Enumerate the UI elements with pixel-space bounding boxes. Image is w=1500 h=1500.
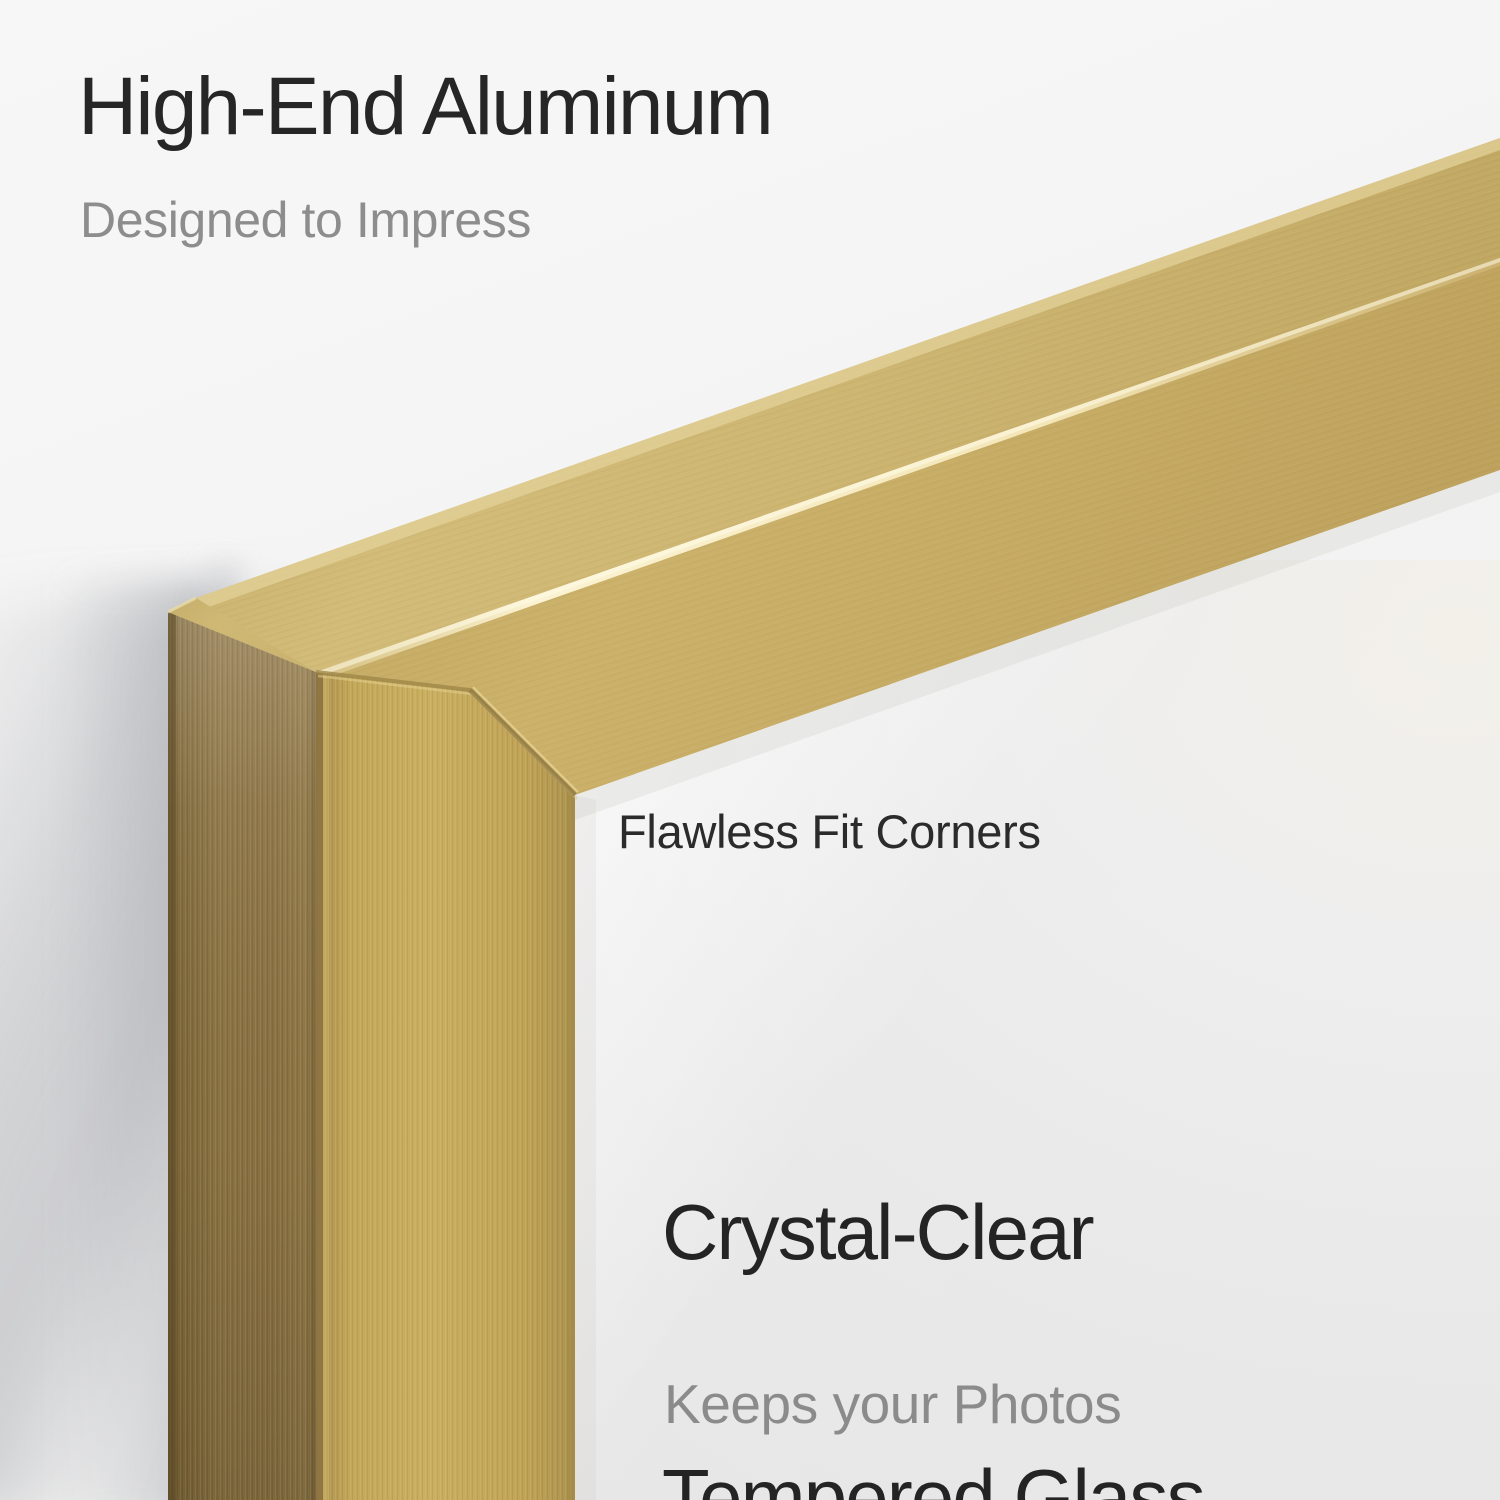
callout-flawless-fit-corners: Flawless Fit Corners bbox=[618, 808, 1041, 855]
page-title: High-End Aluminum bbox=[78, 66, 772, 148]
page-subtitle: Designed to Impress bbox=[80, 195, 531, 245]
glass-feature-subtitle: Keeps your Photos Looking Sharp bbox=[664, 1245, 1121, 1500]
frame-left-inner-face bbox=[316, 672, 575, 1500]
frame-left-outer-face bbox=[168, 612, 316, 1500]
glass-feature-subtitle-line1: Keeps your Photos bbox=[664, 1373, 1121, 1437]
product-feature-image: High-End Aluminum Designed to Impress Fl… bbox=[0, 0, 1500, 1500]
